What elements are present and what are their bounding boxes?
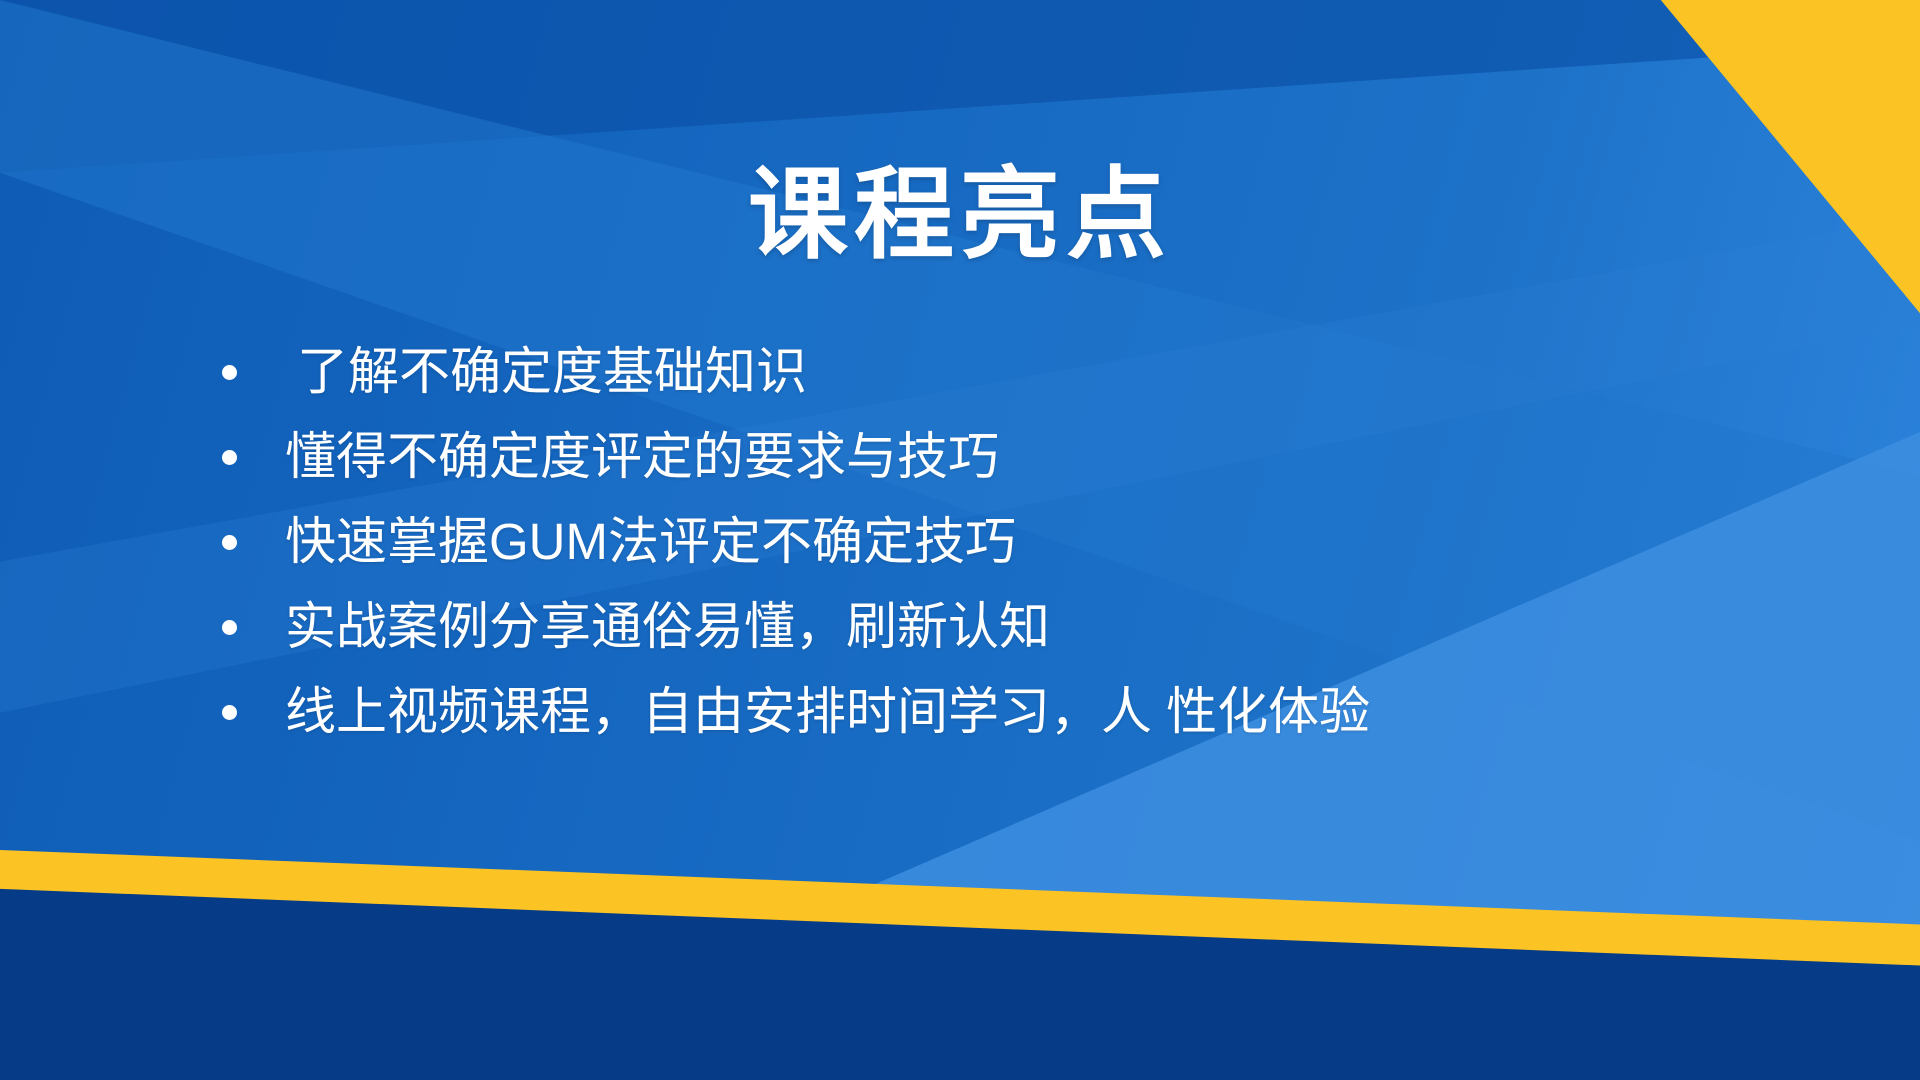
list-item-label: 线上视频课程，自由安排时间学习，人 性化体验 [285,684,1370,740]
list-item: 线上视频课程，自由安排时间学习，人 性化体验 [218,670,1860,755]
list-item-label: 实战案例分享通俗易懂，刷新认知 [285,599,1050,655]
bullet-dot-icon [222,705,237,720]
highlights-list: 了解不确定度基础知识 懂得不确定度评定的要求与技巧 快速掌握GUM法评定不确定技… [218,330,1860,755]
list-item: 懂得不确定度评定的要求与技巧 [218,415,1860,500]
slide-canvas: 课程亮点 了解不确定度基础知识 懂得不确定度评定的要求与技巧 快速掌握GUM法评… [0,0,1920,1080]
list-item: 快速掌握GUM法评定不确定技巧 [218,500,1860,585]
list-item: 实战案例分享通俗易懂，刷新认知 [218,585,1860,670]
page-title: 课程亮点 [0,159,1920,271]
bullet-dot-icon [222,450,237,465]
list-item-label: 快速掌握GUM法评定不确定技巧 [285,514,1016,570]
list-item: 了解不确定度基础知识 [218,330,1860,415]
bullet-dot-icon [222,535,237,550]
list-item-label: 懂得不确定度评定的要求与技巧 [285,429,999,485]
list-item-label: 了解不确定度基础知识 [285,344,807,400]
bullet-dot-icon [222,620,237,635]
bullet-dot-icon [222,365,237,380]
